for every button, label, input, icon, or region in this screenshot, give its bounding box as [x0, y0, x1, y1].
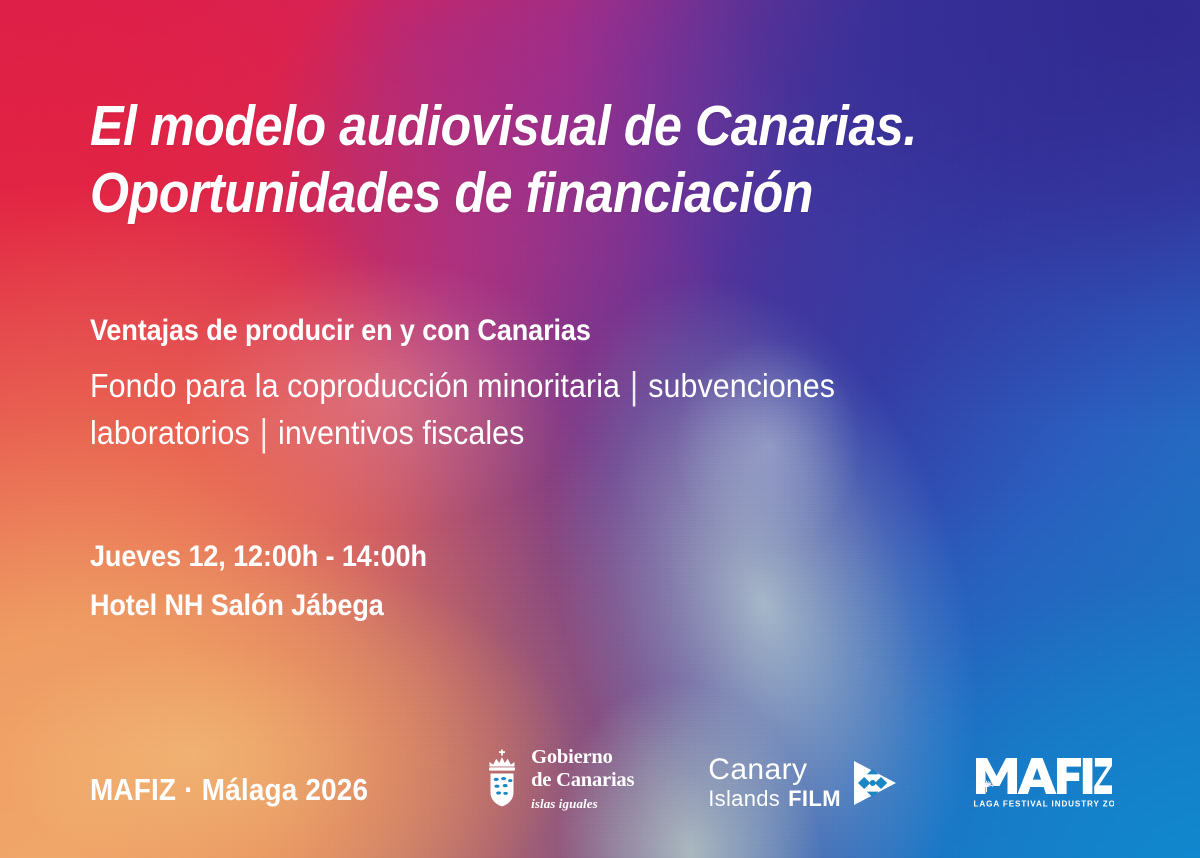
lead-heading: Ventajas de producir en y con Canarias — [90, 312, 999, 350]
svg-text:MÁLAGA FESTIVAL INDUSTRY ZONE: MÁLAGA FESTIVAL INDUSTRY ZONE — [974, 798, 1114, 808]
lead-item-subvenciones: subvenciones — [648, 367, 835, 404]
canary-islands-film-line-1: Canary — [708, 755, 841, 786]
logo-gobierno-text: Gobierno de Canarias islas iguales — [531, 746, 634, 810]
lead-separator-icon: | — [630, 359, 638, 413]
gobierno-tagline: islas iguales — [531, 797, 634, 810]
canary-islands-film-line-2: Islands — [708, 788, 780, 810]
canary-islands-film-line-3: FILM — [788, 788, 841, 810]
lead-item-fondo: Fondo para la coproducción minoritaria — [90, 367, 620, 404]
event-date: Jueves 12, 12:00h - 14:00h — [90, 533, 427, 582]
lead-item-laboratorios: laboratorios — [90, 414, 250, 451]
footer-edition: Málaga 2026 — [202, 772, 368, 807]
lead-item-incentivos: inventivos fiscales — [278, 414, 524, 451]
canary-islands-film-row-2: Islands FILM — [708, 788, 841, 810]
lead-separator-icon-2: | — [260, 406, 268, 460]
logo-canary-islands-film-text: Canary Islands FILM — [708, 755, 841, 810]
logo-canary-islands-film: Canary Islands FILM — [708, 755, 900, 810]
footer: MAFIZ·Málaga 2026 — [0, 718, 1200, 814]
canary-islands-coat-of-arms-icon — [484, 749, 520, 807]
lead-block: Ventajas de producir en y con Canarias F… — [90, 312, 1100, 457]
lead-line-2: laboratorios|inventivos fiscales — [90, 410, 1019, 457]
gobierno-line-2: de Canarias — [531, 769, 634, 792]
gobierno-line-1: Gobierno — [531, 746, 634, 769]
footer-brand: MAFIZ — [90, 772, 176, 807]
poster-content: El modelo audiovisual de Canarias. Oport… — [0, 0, 1200, 858]
footer-dot-icon: · — [184, 772, 193, 807]
title-line-2: Oportunidades de financiación — [90, 160, 952, 227]
lead-line-1: Fondo para la coproducción minoritaria|s… — [90, 363, 1019, 410]
footer-logos: Gobierno de Canarias islas iguales Canar… — [484, 746, 1114, 810]
page-title: El modelo audiovisual de Canarias. Oport… — [90, 93, 1070, 226]
event-details: Jueves 12, 12:00h - 14:00h Hotel NH Saló… — [90, 533, 464, 630]
title-line-1: El modelo audiovisual de Canarias. — [90, 93, 952, 160]
mafiz-logo-icon: MÁLAGA FESTIVAL INDUSTRY ZONE — [974, 754, 1114, 810]
footer-brandline: MAFIZ·Málaga 2026 — [90, 772, 368, 808]
poster: El modelo audiovisual de Canarias. Oport… — [0, 0, 1200, 858]
event-venue: Hotel NH Salón Jábega — [90, 582, 427, 631]
play-triangle-mark-icon — [848, 757, 900, 809]
logo-gobierno-de-canarias: Gobierno de Canarias islas iguales — [484, 746, 634, 810]
logo-mafiz: MAFIZ MÁLAGA FESTIVAL INDUSTRY ZONE — [974, 754, 1114, 810]
